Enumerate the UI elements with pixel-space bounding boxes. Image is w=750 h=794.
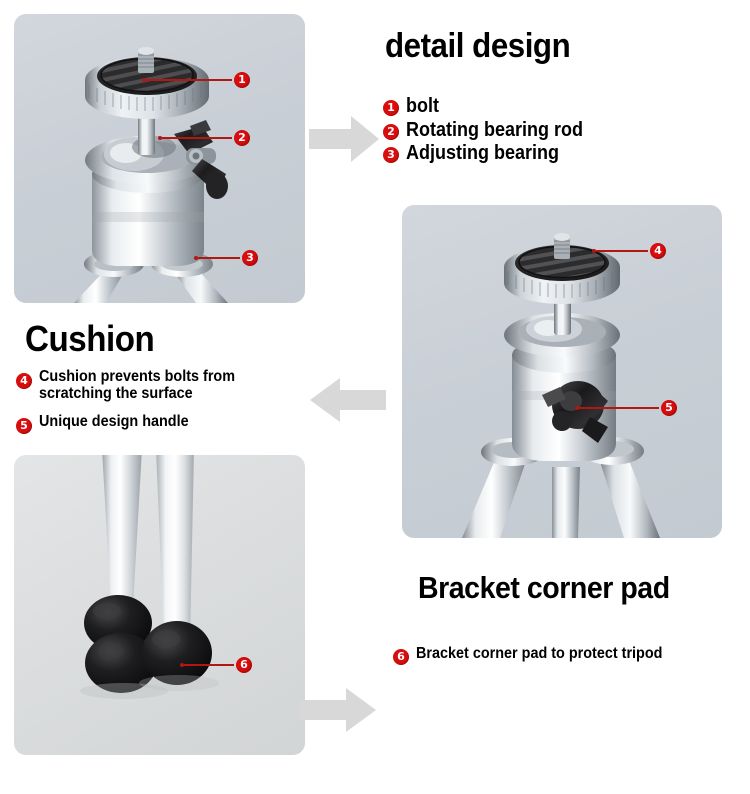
legend-detail-design: 1 bolt 2 Rotating bearing rod 3 Adjustin… bbox=[383, 96, 603, 167]
legend-item-1: 1 bolt bbox=[383, 96, 603, 118]
callout-1-bolt: 1 bbox=[142, 72, 250, 88]
legend-item-2: 2 Rotating bearing rod bbox=[383, 120, 603, 142]
callout-6-line bbox=[184, 664, 234, 666]
ball-head-illustration bbox=[14, 14, 305, 303]
callout-4-line bbox=[596, 250, 648, 252]
callout-2-rotating-bearing-rod: 2 bbox=[158, 130, 250, 146]
legend-badge-4: 4 bbox=[16, 373, 32, 389]
callout-2-line bbox=[162, 137, 232, 139]
legend-badge-2: 2 bbox=[383, 124, 399, 140]
photo-panel-ball-head-with-legs bbox=[402, 205, 722, 538]
callout-6-corner-pad: 6 bbox=[180, 657, 252, 673]
callout-4-cushion-pad: 4 bbox=[592, 243, 666, 259]
callout-2-badge: 2 bbox=[234, 130, 250, 146]
legend-label-4: Cushion prevents bolts from scratching t… bbox=[39, 368, 235, 403]
arrow-right-icon-to-bracket-pad bbox=[300, 688, 376, 732]
legend-cushion: 4 Cushion prevents bolts from scratching… bbox=[16, 368, 257, 444]
legend-item-4: 4 Cushion prevents bolts from scratching… bbox=[16, 368, 257, 403]
legend-item-3: 3 Adjusting bearing bbox=[383, 143, 603, 165]
photo-panel-leg-corner-pads bbox=[14, 455, 305, 755]
arrow-left-icon-to-cushion bbox=[310, 378, 386, 422]
section-title-cushion: Cushion bbox=[25, 318, 154, 360]
callout-1-line bbox=[146, 79, 232, 81]
callout-4-badge: 4 bbox=[650, 243, 666, 259]
leg-corner-pads-illustration bbox=[14, 455, 305, 755]
legend-bracket-corner-pad: 6 Bracket corner pad to protect tripod bbox=[393, 645, 690, 667]
callout-6-badge: 6 bbox=[236, 657, 252, 673]
arrow-right-icon-to-detail-design bbox=[309, 116, 379, 162]
page-title-detail-design: detail design bbox=[385, 27, 570, 66]
legend-label-2: Rotating bearing rod bbox=[406, 120, 583, 142]
callout-5-badge: 5 bbox=[661, 400, 677, 416]
legend-item-6: 6 Bracket corner pad to protect tripod bbox=[393, 645, 690, 665]
section-title-bracket-corner-pad: Bracket corner pad bbox=[418, 570, 670, 606]
ball-head-legs-illustration bbox=[402, 205, 722, 538]
legend-label-3: Adjusting bearing bbox=[406, 143, 559, 165]
legend-label-6: Bracket corner pad to protect tripod bbox=[416, 645, 662, 662]
legend-badge-6: 6 bbox=[393, 649, 409, 665]
legend-badge-3: 3 bbox=[383, 147, 399, 163]
legend-label-5: Unique design handle bbox=[39, 413, 189, 430]
legend-label-1: bolt bbox=[406, 96, 439, 118]
callout-5-line bbox=[579, 407, 659, 409]
photo-panel-ball-head-closeup: 1 2 3 bbox=[14, 14, 305, 303]
callout-5-locking-handle: 5 bbox=[575, 400, 677, 416]
callout-3-badge: 3 bbox=[242, 250, 258, 266]
callout-1-badge: 1 bbox=[234, 72, 250, 88]
legend-badge-5: 5 bbox=[16, 418, 32, 434]
callout-3-adjusting-bearing: 3 bbox=[194, 250, 258, 266]
callout-3-line bbox=[198, 257, 240, 259]
legend-item-5: 5 Unique design handle bbox=[16, 413, 257, 434]
legend-badge-1: 1 bbox=[383, 100, 399, 116]
